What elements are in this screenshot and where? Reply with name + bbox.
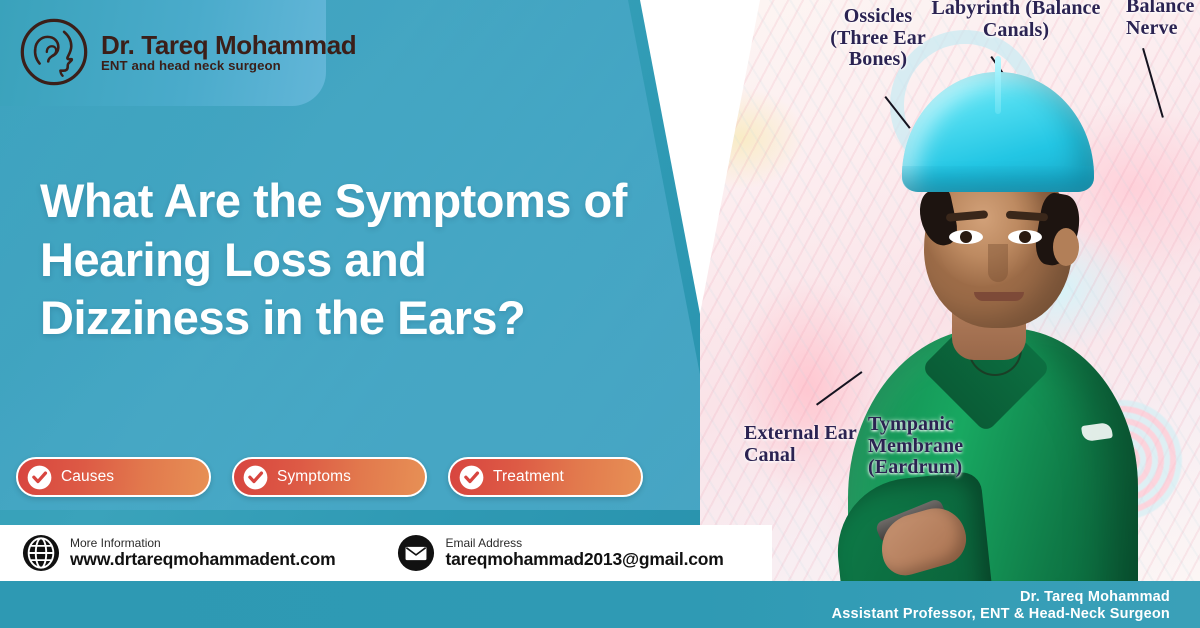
contact-website-value: www.drtareqmohammadent.com [70,550,335,569]
anatomy-label-balance-nerve: Balance Nerve [1126,0,1200,39]
pill-causes[interactable]: Causes [16,457,211,497]
mouth [974,292,1024,301]
eye-left [949,230,983,244]
anatomy-label-ossicles: Ossicles (Three Ear Bones) [813,6,943,71]
check-circle-icon [27,465,52,490]
contact-email-text: Email Address tareqmohammad2013@gmail.co… [445,537,723,569]
brand-text: Dr. Tareq Mohammad ENT and head neck sur… [101,32,356,72]
brand-tagline: ENT and head neck surgeon [101,59,356,72]
anatomy-label-labyrinth: Labyrinth (Balance Canals) [926,0,1106,41]
poster-canvas: Ossicles (Three Ear Bones) Labyrinth (Ba… [0,0,1200,628]
contact-website[interactable]: More Information www.drtareqmohammadent.… [22,534,335,572]
check-circle-icon [243,465,268,490]
ear [1053,228,1079,266]
brand-name: Dr. Tareq Mohammad [101,32,356,58]
brand-logo-plate: Dr. Tareq Mohammad ENT and head neck sur… [0,0,326,106]
surgical-cap [902,72,1094,192]
eye-right [1008,230,1042,244]
anatomy-label-external-canal: External Ear Canal [744,423,862,466]
contact-bar: More Information www.drtareqmohammadent.… [0,525,772,581]
pill-label: Treatment [493,468,564,486]
anatomy-label-tympanic: Tympanic Membrane (Eardrum) [868,414,988,479]
nose [988,244,1008,282]
eyebrow-right [1006,211,1048,222]
credentials-name: Dr. Tareq Mohammad [832,589,1170,607]
credentials-role: Assistant Professor, ENT & Head-Neck Sur… [832,606,1170,624]
brand-logo-row[interactable]: Dr. Tareq Mohammad ENT and head neck sur… [18,16,356,88]
doctor-credentials: Dr. Tareq Mohammad Assistant Professor, … [832,589,1170,624]
check-circle-icon [459,465,484,490]
topic-pill-group: Causes Symptoms Treatment [16,457,643,497]
envelope-icon [397,534,435,572]
contact-website-text: More Information www.drtareqmohammadent.… [70,537,335,569]
globe-icon [22,534,60,572]
contact-email-value: tareqmohammad2013@gmail.com [445,550,723,569]
hero-headline: What Are the Symptoms of Hearing Loss an… [40,172,640,348]
pill-symptoms[interactable]: Symptoms [232,457,427,497]
doctor-figure [820,28,1160,628]
contact-email[interactable]: Email Address tareqmohammad2013@gmail.co… [397,534,723,572]
pill-label: Causes [61,468,114,486]
pill-label: Symptoms [277,468,351,486]
pill-treatment[interactable]: Treatment [448,457,643,497]
ear-head-profile-icon [18,16,90,88]
